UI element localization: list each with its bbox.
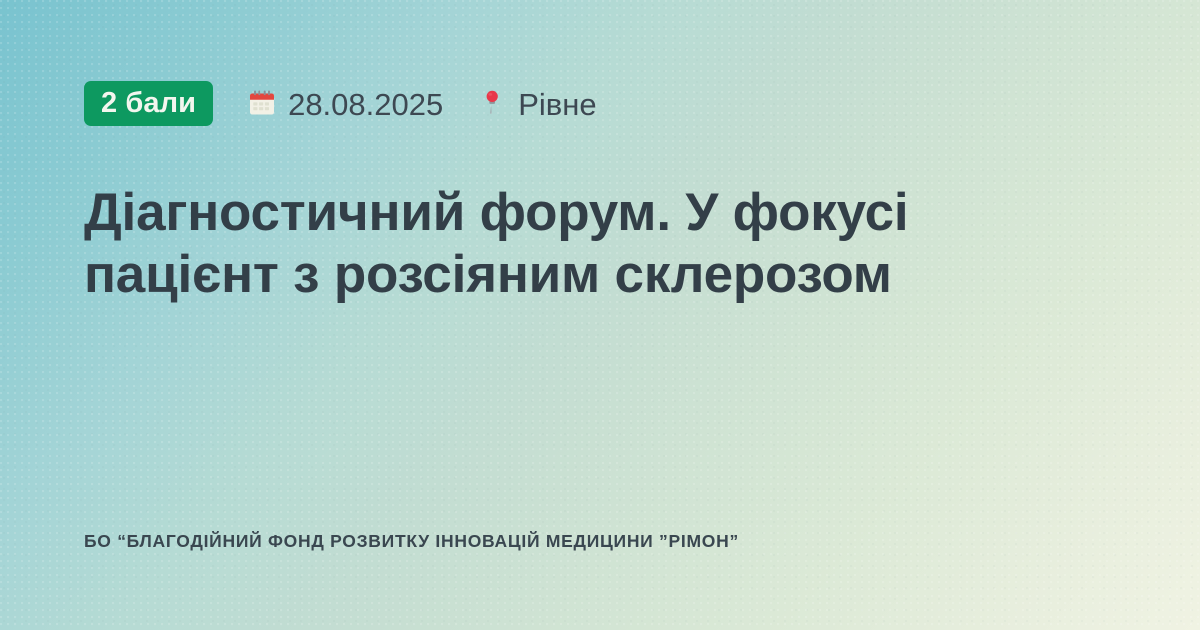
credits-badge: 2 бали — [84, 81, 213, 126]
event-date-text: 28.08.2025 — [288, 89, 443, 120]
event-card: 2 бали — [0, 0, 1200, 630]
event-location-text: Рівне — [518, 89, 596, 120]
event-date: 28.08.2025 — [247, 88, 443, 119]
event-location: Рівне — [477, 88, 596, 119]
organizer-name: БО “БЛАГОДІЙНИЙ ФОНД РОЗВИТКУ ІННОВАЦІЙ … — [84, 531, 739, 552]
page-title: Діагностичний форум. У фокусі пацієнт з … — [84, 126, 984, 306]
meta-row: 2 бали — [84, 80, 1116, 126]
title-line-1: Діагностичний форум. У фокусі — [84, 183, 908, 242]
calendar-icon — [247, 88, 277, 118]
location-pin-icon — [477, 88, 507, 118]
title-line-2: пацієнт з розсіяним склерозом — [84, 245, 892, 304]
